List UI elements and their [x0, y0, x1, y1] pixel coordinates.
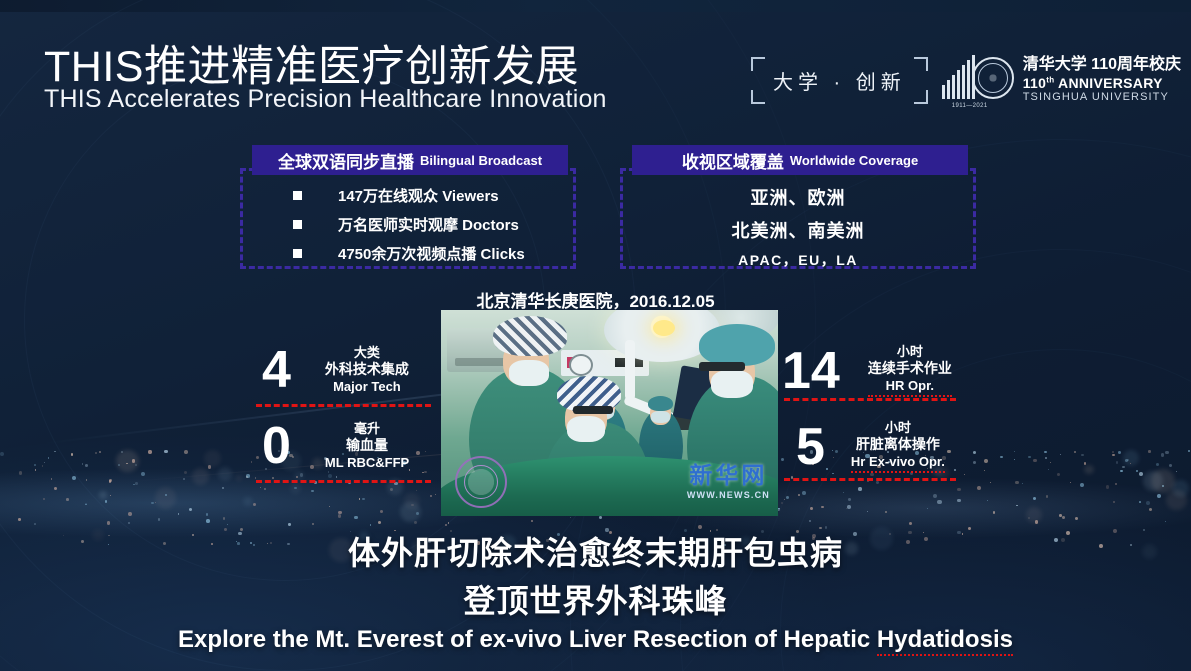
bullet-square-icon — [293, 191, 302, 200]
bottom-headline-english: Explore the Mt. Everest of ex-vivo Liver… — [0, 626, 1191, 654]
stat-ex-vivo-operation: 5 小时 肝脏离体操作 Hr Ex-vivo Opr. — [796, 420, 945, 473]
stat-divider — [784, 478, 956, 481]
anniversary-mark-icon: 1911—2021 — [942, 55, 1014, 105]
xinhua-watermark: 新华网 WWW.NEWS.CN — [687, 456, 770, 500]
panel-1-title-bar: 全球双语同步直播 Bilingual Broadcast — [252, 145, 568, 175]
stat-desc: 输血量 — [325, 437, 409, 455]
bullet-text: 147万在线观众 Viewers — [338, 185, 499, 206]
panel-1-title-cn: 全球双语同步直播 — [278, 148, 414, 173]
stat-hr-operation: 14 小时 连续手术作业 HR Opr. — [782, 344, 952, 397]
panel-2-title-bar: 收视区域覆盖 Worldwide Coverage — [632, 145, 968, 175]
region-line-2: 北美洲、南美洲 — [623, 217, 973, 243]
list-item: 147万在线观众 Viewers — [293, 185, 573, 206]
panel-2-title-cn: 收视区域覆盖 — [682, 148, 784, 173]
list-item: 万名医师实时观摩 Doctors — [293, 214, 573, 235]
slogan-text: 大学 · 创新 — [773, 66, 906, 95]
stat-en: ML RBC&FFP — [325, 455, 409, 471]
region-line-1: 亚洲、欧洲 — [623, 184, 973, 210]
stat-unit: 小时 — [851, 420, 945, 436]
stat-desc: 肝脏离体操作 — [851, 436, 945, 454]
photo-caption: 北京清华长庚医院，2016.12.05 — [0, 287, 1191, 312]
panel-bilingual-broadcast: 全球双语同步直播 Bilingual Broadcast 147万在线观众 Vi… — [240, 168, 576, 269]
stat-number: 5 — [796, 421, 825, 473]
surgery-photo: 新华网 WWW.NEWS.CN — [441, 310, 778, 516]
stat-desc: 外科技术集成 — [325, 361, 409, 379]
stat-en: Hr Ex-vivo Opr. — [851, 454, 945, 473]
brand-lockup: 大学 · 创新 1911—2021 清华大学 110周年校庆 110th ANN… — [751, 55, 1181, 105]
bottom-en-misspelled: Hydatidosis — [877, 626, 1013, 656]
stat-unit: 小时 — [868, 344, 952, 360]
stat-number: 4 — [262, 344, 291, 396]
anniversary-en: 110th ANNIVERSARY — [1023, 75, 1181, 92]
bottom-headline-line-1: 体外肝切除术治愈终末期肝包虫病 — [0, 528, 1191, 574]
stat-unit: 毫升 — [325, 421, 409, 437]
panel-worldwide-coverage: 收视区域覆盖 Worldwide Coverage 亚洲、欧洲 北美洲、南美洲 … — [620, 168, 976, 269]
bottom-headline-line-2: 登顶世界外科珠峰 — [0, 576, 1191, 622]
bottom-en-text: Explore the Mt. Everest of ex-vivo Liver… — [178, 626, 877, 653]
stat-major-tech: 4 大类 外科技术集成 Major Tech — [262, 344, 409, 396]
slogan-badge: 大学 · 创新 — [751, 57, 928, 104]
stat-divider — [256, 404, 431, 407]
stat-blood-volume: 0 毫升 输血量 ML RBC&FFP — [262, 420, 409, 472]
bullet-text: 4750余万次视频点播 Clicks — [338, 243, 525, 264]
top-edge-strip — [0, 0, 1191, 12]
panel-2-regions: 亚洲、欧洲 北美洲、南美洲 APAC，EU，LA — [623, 184, 973, 270]
slide-root: THIS推进精准医疗创新发展 THIS Accelerates Precisio… — [0, 0, 1191, 671]
page-subtitle: THIS Accelerates Precision Healthcare In… — [44, 85, 607, 114]
stat-en: Major Tech — [325, 379, 409, 395]
panel-1-title-en: Bilingual Broadcast — [420, 153, 542, 168]
bullet-square-icon — [293, 249, 302, 258]
stat-divider — [784, 398, 956, 401]
stat-number: 0 — [262, 420, 291, 472]
stat-desc: 连续手术作业 — [868, 360, 952, 378]
bullet-square-icon — [293, 220, 302, 229]
university-name: TSINGHUA UNIVERSITY — [1023, 91, 1181, 104]
panel-2-title-en: Worldwide Coverage — [790, 153, 918, 168]
panel-1-bullet-list: 147万在线观众 Viewers 万名医师实时观摩 Doctors 4750余万… — [243, 185, 573, 264]
list-item: 4750余万次视频点播 Clicks — [293, 243, 573, 264]
anniversary-years: 1911—2021 — [952, 103, 988, 109]
anniversary-cn: 清华大学 110周年校庆 — [1023, 56, 1181, 75]
tsinghua-110-logo: 1911—2021 清华大学 110周年校庆 110th ANNIVERSARY… — [942, 55, 1181, 105]
watermark-url: WWW.NEWS.CN — [687, 490, 770, 500]
stat-divider — [256, 480, 431, 483]
watermark-cn: 新华网 — [687, 456, 770, 490]
stat-en: HR Opr. — [868, 378, 952, 397]
region-line-3: APAC，EU，LA — [623, 250, 973, 270]
bullet-text: 万名医师实时观摩 Doctors — [338, 214, 519, 235]
stat-unit: 大类 — [325, 345, 409, 361]
stat-number: 14 — [782, 345, 840, 397]
hospital-seal-icon — [455, 456, 507, 508]
